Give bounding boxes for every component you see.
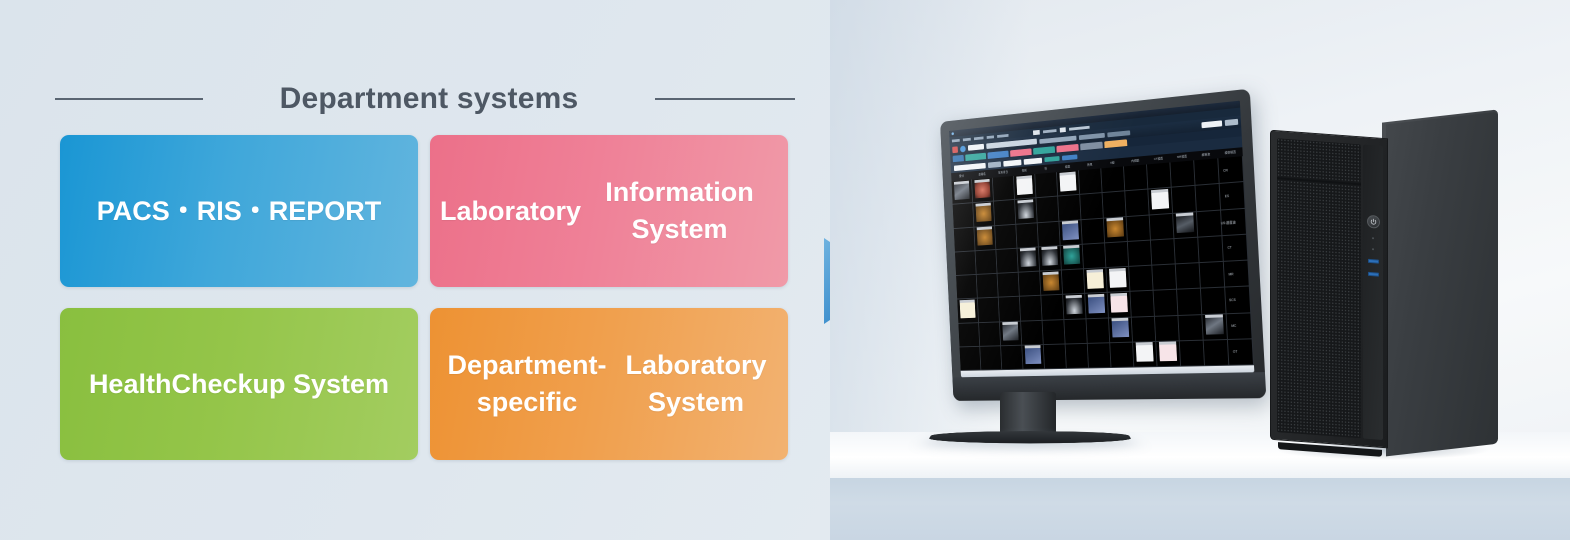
- study-grid-cell[interactable]: [1064, 319, 1087, 344]
- study-grid-cell[interactable]: [1132, 316, 1156, 342]
- study-thumbnail[interactable]: [1002, 325, 1018, 341]
- study-grid-cell[interactable]: [974, 226, 996, 251]
- study-thumbnail[interactable]: [1041, 249, 1057, 266]
- study-grid-cell[interactable]: [973, 202, 995, 227]
- usb-port-2[interactable]: [1368, 272, 1379, 277]
- card-label-line: Laboratory: [440, 193, 581, 230]
- filter-text-input[interactable]: [954, 162, 986, 170]
- study-grid-cell[interactable]: [1021, 320, 1044, 345]
- search-input[interactable]: [1201, 120, 1222, 128]
- study-grid-cell[interactable]: [1133, 342, 1158, 368]
- study-grid-cell[interactable]: [1041, 295, 1064, 320]
- card-label-line: Department-specific: [440, 347, 614, 421]
- modality-row-label: CT: [1211, 234, 1248, 262]
- tower-io-panel: [1363, 144, 1383, 439]
- study-thumbnail[interactable]: [1020, 251, 1036, 268]
- study-grid-cell[interactable]: [1079, 168, 1103, 195]
- study-grid-cell[interactable]: [1101, 166, 1125, 193]
- study-grid-cell[interactable]: [1180, 340, 1205, 366]
- study-grid-cell[interactable]: [1039, 246, 1062, 272]
- study-grid-cell[interactable]: [993, 176, 1015, 202]
- study-thumbnail[interactable]: [1151, 192, 1169, 210]
- study-thumbnail[interactable]: [977, 229, 993, 246]
- study-thumbnail[interactable]: [1066, 297, 1083, 314]
- department-systems-panel: Department systems PACS・RIS・REPORT Labor…: [0, 0, 830, 540]
- modality-row-label: OT: [1217, 339, 1254, 366]
- filter-chip[interactable]: [1062, 154, 1078, 160]
- study-grid-cell[interactable]: [1173, 212, 1198, 239]
- monitor-bezel: 受付患者名生年月日性別科検査所見X線内視鏡CT検査MR検査超音波検体検査 CRE…: [940, 89, 1266, 401]
- study-grid-cell[interactable]: [1042, 320, 1065, 345]
- study-grid-cell[interactable]: [957, 299, 979, 324]
- card-laboratory-information-system[interactable]: LaboratoryInformation System: [430, 135, 788, 287]
- study-grid-cell[interactable]: [1019, 272, 1042, 297]
- desk-front-edge: [830, 478, 1570, 540]
- study-grid-cell[interactable]: [1086, 318, 1110, 344]
- study-thumbnail[interactable]: [1043, 274, 1059, 291]
- study-grid-cell[interactable]: [1014, 174, 1037, 200]
- study-thumbnail[interactable]: [1136, 345, 1153, 362]
- menu-item[interactable]: [1069, 125, 1090, 130]
- study-grid-cell[interactable]: [953, 203, 975, 228]
- study-thumbnail[interactable]: [974, 181, 990, 198]
- study-thumbnail[interactable]: [1018, 202, 1034, 219]
- tab-0[interactable]: [953, 155, 964, 162]
- study-grid-cell[interactable]: [1083, 243, 1107, 269]
- study-grid-cell[interactable]: [1150, 213, 1175, 240]
- study-grid-cell[interactable]: [1084, 268, 1108, 294]
- study-grid-cell[interactable]: [1016, 223, 1039, 249]
- study-grid-cell[interactable]: [997, 273, 1019, 298]
- modality-row-label: SCS: [1214, 287, 1251, 314]
- study-grid-cell[interactable]: [1148, 188, 1173, 215]
- study-grid-cell[interactable]: [1020, 296, 1043, 321]
- study-grid-cell[interactable]: [995, 224, 1017, 249]
- card-pacs-ris-report[interactable]: PACS・RIS・REPORT: [60, 135, 418, 287]
- modality-row-label: MR: [1213, 261, 1250, 289]
- card-label-line: PACS・RIS・: [97, 193, 269, 230]
- study-grid-cell[interactable]: [977, 274, 999, 299]
- menu-item[interactable]: [974, 136, 984, 140]
- modality-row-label: ES: [1208, 182, 1245, 211]
- study-grid-cell[interactable]: [1129, 266, 1153, 292]
- study-grid-cell[interactable]: [1081, 218, 1105, 244]
- study-grid-cell[interactable]: [1044, 344, 1067, 369]
- app-logo-icon: [951, 132, 953, 135]
- card-label-line: Laboratory System: [614, 347, 778, 421]
- study-grid-cell[interactable]: [1108, 292, 1132, 318]
- study-grid-cell[interactable]: [1017, 247, 1040, 273]
- filter-button[interactable]: [988, 161, 1001, 168]
- study-grid-cell[interactable]: [1127, 215, 1151, 242]
- hdd-led-icon: [1372, 248, 1374, 250]
- study-thumbnail[interactable]: [1176, 215, 1194, 233]
- study-thumbnail[interactable]: [976, 205, 992, 222]
- study-thumbnail[interactable]: [1062, 223, 1079, 240]
- study-grid-cell[interactable]: [1110, 342, 1134, 368]
- study-grid-cell[interactable]: [1062, 269, 1085, 295]
- search-button[interactable]: [1225, 119, 1239, 126]
- refresh-icon[interactable]: [960, 145, 966, 152]
- study-grid-cell[interactable]: [1172, 186, 1197, 213]
- study-grid-cell[interactable]: [1177, 289, 1202, 316]
- workstation-photo: 受付患者名生年月日性別科検査所見X線内視鏡CT検査MR検査超音波検体検査 CRE…: [830, 0, 1570, 540]
- study-grid-cell[interactable]: [978, 298, 1000, 323]
- card-label-line: Health: [89, 366, 172, 403]
- toolbar-label: [1079, 132, 1105, 139]
- study-grid-cell[interactable]: [951, 180, 973, 205]
- monitor-stand-base: [926, 431, 1134, 443]
- study-grid-cell[interactable]: [1106, 267, 1130, 293]
- study-grid-cell[interactable]: [1058, 195, 1081, 221]
- study-grid-cell[interactable]: [1022, 345, 1045, 370]
- modality-row-label: MC: [1215, 313, 1252, 340]
- pacs-application: 受付患者名生年月日性別科検査所見X線内視鏡CT検査MR検査超音波検体検査 CRE…: [949, 101, 1254, 378]
- study-grid-cell[interactable]: [1103, 191, 1127, 218]
- study-grid-cell[interactable]: [1080, 193, 1104, 219]
- study-thumbnail[interactable]: [1109, 270, 1126, 287]
- filter-select[interactable]: [1024, 157, 1042, 164]
- usb-port-1[interactable]: [1368, 259, 1379, 264]
- study-grid-cell[interactable]: [1001, 345, 1023, 370]
- study-grid-cell[interactable]: [1061, 244, 1084, 270]
- card-department-specific-laboratory-system[interactable]: Department-specificLaboratory System: [430, 308, 788, 460]
- filter-chip[interactable]: [1044, 156, 1059, 162]
- card-label-line: Information System: [581, 174, 778, 248]
- heading-rule-right: [655, 98, 795, 100]
- study-grid-cell[interactable]: [994, 200, 1016, 226]
- study-grid-cell[interactable]: [1063, 294, 1086, 320]
- study-grid-cell[interactable]: [1124, 164, 1148, 191]
- pc-tower: [1270, 118, 1498, 448]
- study-thumbnail[interactable]: [1025, 348, 1041, 364]
- section-heading: Department systems: [55, 78, 795, 120]
- study-grid-cell[interactable]: [1057, 170, 1080, 196]
- study-grid-cell[interactable]: [1000, 321, 1022, 346]
- menu-item[interactable]: [1043, 129, 1057, 133]
- modality-row-label: US:超音波: [1210, 208, 1247, 236]
- study-grid-cell[interactable]: [1066, 344, 1089, 369]
- study-grid-cell[interactable]: [1125, 190, 1149, 217]
- toolbar-label: [1107, 130, 1130, 137]
- study-grid-cell[interactable]: [956, 275, 978, 300]
- record-icon[interactable]: [952, 146, 958, 153]
- study-thumbnail[interactable]: [1112, 321, 1129, 338]
- study-grid-cell[interactable]: [960, 347, 982, 371]
- study-grid: 受付患者名生年月日性別科検査所見X線内視鏡CT検査MR検査超音波検体検査 CRE…: [951, 147, 1254, 371]
- study-grid-cell[interactable]: [1155, 315, 1180, 341]
- study-grid-cell[interactable]: [1059, 220, 1082, 246]
- study-grid-cell[interactable]: [1156, 341, 1181, 367]
- power-button[interactable]: [1367, 215, 1380, 229]
- study-thumbnail[interactable]: [1087, 272, 1104, 289]
- study-grid-cell[interactable]: [1040, 270, 1063, 296]
- monitor: 受付患者名生年月日性別科検査所見X線内視鏡CT検査MR検査超音波検体検査 CRE…: [940, 89, 1266, 401]
- power-icon: [1370, 218, 1377, 226]
- page-title: Department systems: [225, 82, 633, 116]
- menu-item[interactable]: [952, 138, 960, 141]
- menu-item[interactable]: [963, 137, 971, 141]
- patient-id-field[interactable]: [968, 144, 984, 151]
- study-grid-cell[interactable]: [980, 346, 1002, 371]
- study-grid-cell[interactable]: [975, 250, 997, 275]
- study-grid-cell[interactable]: [996, 248, 1018, 273]
- power-led-icon: [1372, 237, 1374, 239]
- study-grid-cell[interactable]: [1152, 264, 1177, 291]
- study-grid-cell[interactable]: [955, 251, 977, 276]
- study-thumbnail[interactable]: [1088, 297, 1105, 314]
- tower-front-panel: [1270, 130, 1388, 449]
- study-grid-cell[interactable]: [1035, 172, 1058, 198]
- modality-row-label: CR: [1207, 156, 1244, 185]
- study-grid-cell[interactable]: [1104, 217, 1128, 244]
- study-grid-cell[interactable]: [979, 322, 1001, 347]
- study-grid-cell[interactable]: [1151, 239, 1176, 266]
- study-thumbnail[interactable]: [1107, 220, 1124, 237]
- study-grid-cell[interactable]: [1109, 317, 1133, 343]
- study-grid-cell[interactable]: [1147, 162, 1172, 189]
- study-thumbnail[interactable]: [960, 302, 975, 318]
- study-thumbnail[interactable]: [954, 183, 969, 200]
- study-thumbnail[interactable]: [1063, 248, 1080, 265]
- document-icon[interactable]: [1060, 127, 1066, 132]
- document-icon[interactable]: [1033, 129, 1040, 134]
- study-grid-cell[interactable]: [1038, 221, 1061, 247]
- study-thumbnail[interactable]: [1159, 345, 1177, 362]
- study-grid-cell[interactable]: [954, 227, 976, 252]
- study-grid-cell[interactable]: [1176, 263, 1201, 290]
- heading-rule-left: [55, 98, 203, 100]
- study-grid-cell[interactable]: [1036, 197, 1059, 223]
- study-grid-cell[interactable]: [1130, 291, 1154, 317]
- study-grid-cell[interactable]: [1105, 242, 1129, 268]
- study-grid-cell[interactable]: [958, 323, 980, 347]
- monitor-screen: 受付患者名生年月日性別科検査所見X線内視鏡CT検査MR検査超音波検体検査 CRE…: [949, 101, 1254, 378]
- tower-side-panel: [1386, 112, 1498, 457]
- monitor-stand-neck: [1000, 392, 1056, 434]
- study-thumbnail[interactable]: [1110, 296, 1127, 313]
- study-grid-cell[interactable]: [1088, 343, 1112, 368]
- card-label-line: Checkup System: [171, 366, 389, 403]
- menu-item[interactable]: [987, 135, 994, 138]
- study-grid-cell[interactable]: [972, 178, 994, 204]
- study-grid-cell[interactable]: [1085, 293, 1109, 319]
- study-grid-cell[interactable]: [1154, 290, 1179, 316]
- menu-item[interactable]: [997, 134, 1008, 138]
- study-grid-cell[interactable]: [1170, 160, 1195, 188]
- study-thumbnail[interactable]: [1016, 178, 1032, 195]
- card-label-line: REPORT: [269, 193, 382, 230]
- card-health-checkup-system[interactable]: HealthCheckup System: [60, 308, 418, 460]
- system-cards-grid: PACS・RIS・REPORT LaboratoryInformation Sy…: [60, 135, 788, 460]
- filter-select[interactable]: [1003, 159, 1021, 166]
- study-grid-cell[interactable]: [1015, 198, 1038, 224]
- study-grid-cell[interactable]: [1174, 237, 1199, 264]
- study-grid-cell[interactable]: [1178, 315, 1203, 341]
- study-grid-cell[interactable]: [1128, 240, 1152, 267]
- study-thumbnail[interactable]: [1060, 174, 1076, 191]
- toolbar-label: [1039, 135, 1076, 143]
- study-grid-cell[interactable]: [999, 297, 1021, 322]
